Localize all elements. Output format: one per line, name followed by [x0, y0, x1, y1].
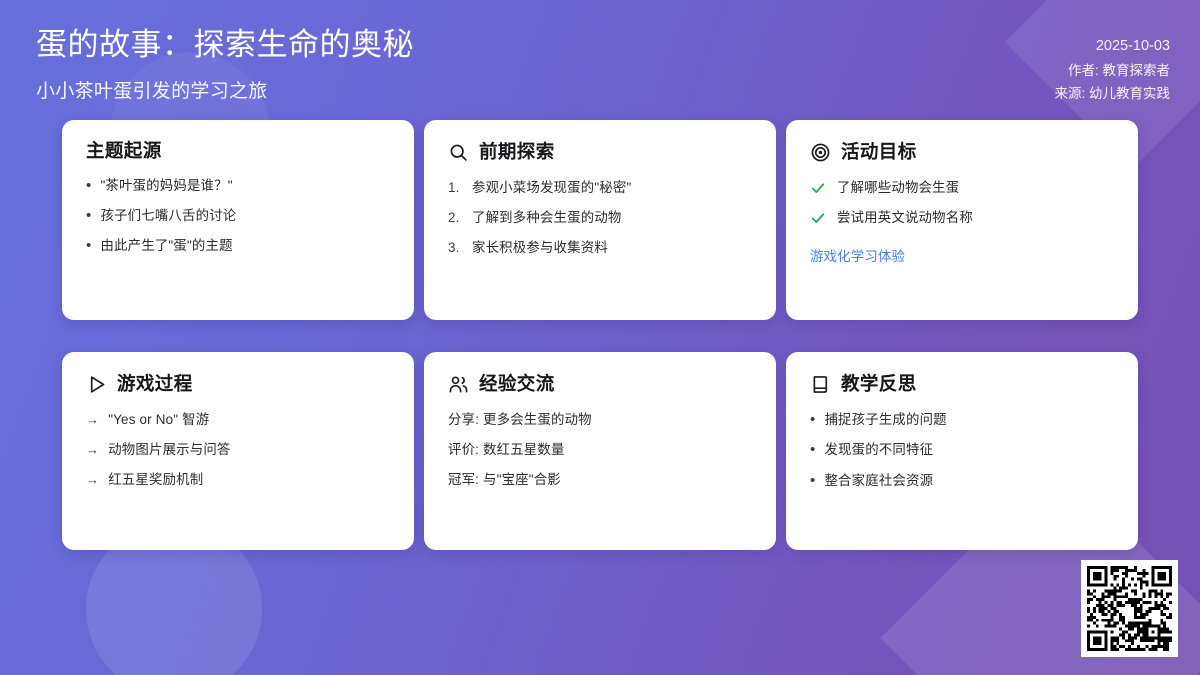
users-icon: [448, 374, 469, 395]
card-body: •捕捉孩子生成的问题•发现蛋的不同特征•整合家庭社会资源: [810, 411, 1114, 490]
list-marker: •: [810, 472, 815, 490]
list-item-text: 参观小菜场发现蛋的"秘密": [472, 179, 752, 197]
list-marker: •: [86, 207, 91, 225]
card-link[interactable]: 游戏化学习体验: [810, 245, 1114, 265]
card-experience-sharing: 经验交流分享: 更多会生蛋的动物评价: 数红五星数量冠军: 与"宝座"合影: [424, 352, 776, 550]
card-header: 主题起源: [86, 142, 390, 161]
list-item: •孩子们七嘴八舌的讨论: [86, 207, 390, 225]
list-item-text: 冠军: 与"宝座"合影: [448, 471, 752, 489]
card-header: 经验交流: [448, 374, 752, 395]
meta-author: 作者: 教育探索者: [1054, 59, 1170, 82]
meta-source: 来源: 幼儿教育实践: [1054, 82, 1170, 105]
card-title: 经验交流: [479, 375, 555, 394]
list-item-text: 整合家庭社会资源: [824, 472, 1114, 490]
list-item-text: 动物图片展示与问答: [108, 441, 390, 459]
list-marker: •: [810, 441, 815, 459]
list-marker: •: [810, 411, 815, 429]
list-marker: 2.: [448, 209, 463, 227]
list-item-text: 家长积极参与收集资料: [472, 239, 752, 257]
list-item: 评价: 数红五星数量: [448, 441, 752, 459]
card-title: 教学反思: [841, 375, 917, 394]
card-body: →"Yes or No" 智游→动物图片展示与问答→红五星奖励机制: [86, 411, 390, 489]
card-header: 游戏过程: [86, 374, 390, 395]
card-early-exploration: 前期探索1.参观小菜场发现蛋的"秘密"2.了解到多种会生蛋的动物3.家长积极参与…: [424, 120, 776, 320]
list-item: •捕捉孩子生成的问题: [810, 411, 1114, 429]
meta-date: 2025-10-03: [1054, 34, 1170, 59]
list-marker: •: [86, 177, 91, 195]
qr-code-image: [1087, 566, 1172, 651]
card-body: •"茶叶蛋的妈妈是谁？"•孩子们七嘴八舌的讨论•由此产生了"蛋"的主题: [86, 177, 390, 256]
list-item: →动物图片展示与问答: [86, 441, 390, 459]
list-item-text: 孩子们七嘴八舌的讨论: [100, 207, 390, 225]
target-icon: [810, 142, 831, 163]
list-item: •整合家庭社会资源: [810, 472, 1114, 490]
page-subtitle: 小小茶叶蛋引发的学习之旅: [36, 76, 414, 103]
search-icon: [448, 142, 469, 163]
book-icon: [810, 374, 831, 395]
list-item: 了解哪些动物会生蛋: [810, 179, 1114, 197]
slide-header: 蛋的故事：探索生命的奥秘 小小茶叶蛋引发的学习之旅 2025-10-03 作者:…: [0, 0, 1200, 118]
header-meta: 2025-10-03 作者: 教育探索者 来源: 幼儿教育实践: [1054, 26, 1170, 105]
list-item: →"Yes or No" 智游: [86, 411, 390, 429]
list-item-text: 由此产生了"蛋"的主题: [100, 237, 390, 255]
card-activity-goals: 活动目标了解哪些动物会生蛋尝试用英文说动物名称游戏化学习体验: [786, 120, 1138, 320]
list-item-text: "Yes or No" 智游: [108, 411, 390, 429]
card-header: 前期探索: [448, 142, 752, 163]
play-icon: [86, 374, 107, 395]
list-item-text: "茶叶蛋的妈妈是谁？": [100, 177, 390, 195]
list-item-text: 了解到多种会生蛋的动物: [472, 209, 752, 227]
list-marker: →: [86, 411, 99, 429]
card-theme-origin: 主题起源•"茶叶蛋的妈妈是谁？"•孩子们七嘴八舌的讨论•由此产生了"蛋"的主题: [62, 120, 414, 320]
check-icon: [810, 210, 826, 226]
card-header: 活动目标: [810, 142, 1114, 163]
list-item-text: 评价: 数红五星数量: [448, 441, 752, 459]
list-item: →红五星奖励机制: [86, 471, 390, 489]
list-item: 冠军: 与"宝座"合影: [448, 471, 752, 489]
list-item: 尝试用英文说动物名称: [810, 209, 1114, 227]
list-item-text: 捕捉孩子生成的问题: [824, 411, 1114, 429]
list-marker: •: [86, 237, 91, 255]
check-icon: [810, 180, 826, 196]
list-item: 3.家长积极参与收集资料: [448, 239, 752, 257]
card-body: 分享: 更多会生蛋的动物评价: 数红五星数量冠军: 与"宝座"合影: [448, 411, 752, 489]
card-header: 教学反思: [810, 374, 1114, 395]
card-title: 主题起源: [86, 142, 162, 161]
slide-root: 蛋的故事：探索生命的奥秘 小小茶叶蛋引发的学习之旅 2025-10-03 作者:…: [0, 0, 1200, 675]
card-title: 活动目标: [841, 143, 917, 162]
page-title: 蛋的故事：探索生命的奥秘: [36, 26, 414, 65]
list-item: •发现蛋的不同特征: [810, 441, 1114, 459]
list-item-text: 发现蛋的不同特征: [824, 441, 1114, 459]
list-marker: 1.: [448, 179, 463, 197]
qr-code[interactable]: [1081, 560, 1178, 657]
list-item: 1.参观小菜场发现蛋的"秘密": [448, 179, 752, 197]
list-marker: →: [86, 471, 99, 489]
list-item: 分享: 更多会生蛋的动物: [448, 411, 752, 429]
list-item-text: 了解哪些动物会生蛋: [837, 179, 1114, 197]
card-title: 游戏过程: [117, 375, 193, 394]
list-item: •"茶叶蛋的妈妈是谁？": [86, 177, 390, 195]
card-title: 前期探索: [479, 143, 555, 162]
list-marker: 3.: [448, 239, 463, 257]
list-marker: →: [86, 441, 99, 459]
list-item-text: 红五星奖励机制: [108, 471, 390, 489]
list-item: 2.了解到多种会生蛋的动物: [448, 209, 752, 227]
list-item: •由此产生了"蛋"的主题: [86, 237, 390, 255]
header-title-group: 蛋的故事：探索生命的奥秘 小小茶叶蛋引发的学习之旅: [36, 26, 414, 103]
card-body: 了解哪些动物会生蛋尝试用英文说动物名称游戏化学习体验: [810, 179, 1114, 265]
card-teaching-reflection: 教学反思•捕捉孩子生成的问题•发现蛋的不同特征•整合家庭社会资源: [786, 352, 1138, 550]
card-body: 1.参观小菜场发现蛋的"秘密"2.了解到多种会生蛋的动物3.家长积极参与收集资料: [448, 179, 752, 257]
card-game-process: 游戏过程→"Yes or No" 智游→动物图片展示与问答→红五星奖励机制: [62, 352, 414, 550]
list-item-text: 尝试用英文说动物名称: [837, 209, 1114, 227]
list-item-text: 分享: 更多会生蛋的动物: [448, 411, 752, 429]
card-grid: 主题起源•"茶叶蛋的妈妈是谁？"•孩子们七嘴八舌的讨论•由此产生了"蛋"的主题前…: [62, 120, 1138, 550]
